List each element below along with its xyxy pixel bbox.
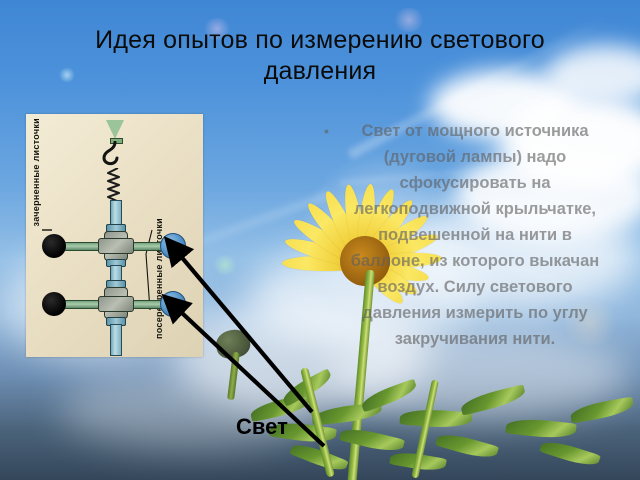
lower-rod <box>110 324 122 356</box>
light-label: Свет <box>236 414 288 440</box>
slide: Идея опытов по измерению светового давле… <box>0 0 640 480</box>
apparatus-diagram: зачерненные листочки посеребренные листо… <box>26 114 203 357</box>
spring-icon <box>105 168 122 202</box>
silvered-leaf-upper <box>160 233 186 259</box>
hub-upper-cross <box>98 238 134 254</box>
hub-lower-cross <box>98 296 134 312</box>
lens-flare <box>212 255 238 275</box>
body-text: Свет от мощного источника (дуговой лампы… <box>318 118 610 352</box>
body-paragraph: • Свет от мощного источника (дуговой лам… <box>318 118 610 352</box>
hook-icon <box>100 141 126 169</box>
page-title: Идея опытов по измерению светового давле… <box>60 25 580 87</box>
suspension-cap-icon <box>106 120 124 139</box>
bullet-icon: • <box>324 124 329 138</box>
blackened-leaf-lower <box>42 292 66 316</box>
blackened-leaf-upper <box>42 234 66 258</box>
silvered-leaf-lower <box>160 291 186 317</box>
